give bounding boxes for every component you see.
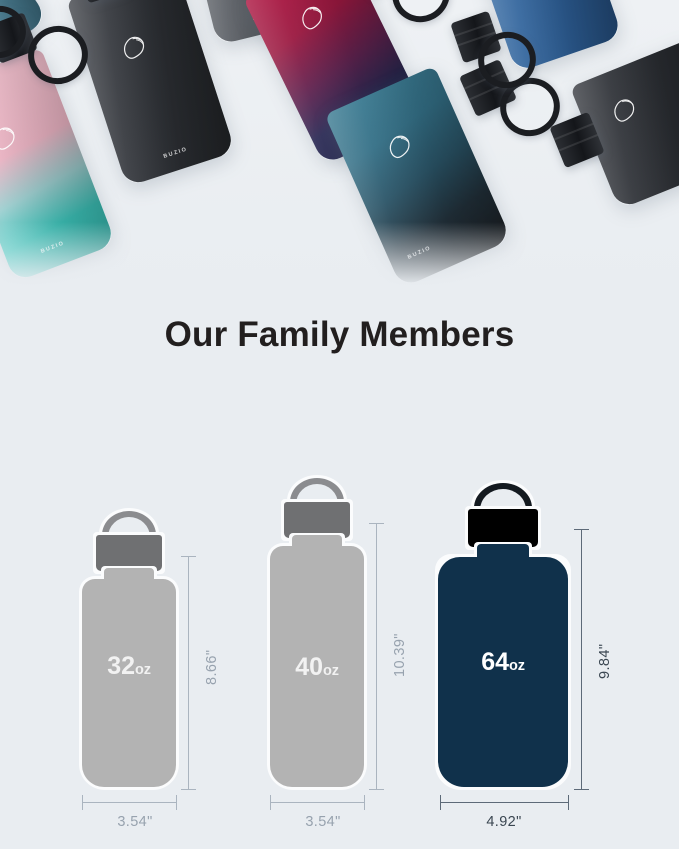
hero-loop-red	[383, 0, 460, 32]
bottle-64oz-width-label: 4.92"	[428, 814, 580, 830]
capacity-value: 32	[107, 652, 135, 680]
size-comparison-diagram: 32oz 8.66" 3.54"	[0, 440, 679, 840]
page-title: Our Family Members	[0, 315, 679, 355]
capacity-unit: oz	[509, 658, 525, 674]
bottle-group-64oz: 64oz 9.84" 4.92"	[428, 440, 598, 840]
capacity-unit: oz	[135, 662, 151, 678]
bottle-32oz-body	[82, 579, 176, 787]
bottle-64oz: 64oz	[435, 480, 571, 790]
bottle-group-32oz: 32oz 8.66" 3.54"	[70, 440, 200, 840]
bottle-32oz-width-label: 3.54"	[70, 814, 200, 830]
hero-product-photo: BUZIO BUZIO BUZIO	[0, 0, 679, 292]
bottle-40oz-width-label: 3.54"	[258, 814, 388, 830]
bottle-40oz: 40oz	[267, 475, 367, 790]
capacity-value: 40	[295, 653, 323, 681]
bottle-64oz-capacity-label: 64oz	[435, 648, 571, 677]
hero-bottle-black-matte: BUZIO	[67, 0, 236, 187]
product-size-chart-page: BUZIO BUZIO BUZIO	[0, 0, 679, 849]
bottle-64oz-height-label: 9.84"	[597, 644, 613, 679]
bottle-group-40oz: 40oz 10.39" 3.54"	[258, 440, 388, 840]
bottle-32oz: 32oz	[79, 508, 179, 790]
hero-bottom-fade	[0, 222, 679, 292]
capacity-value: 64	[481, 648, 509, 676]
bottle-32oz-capacity-label: 32oz	[79, 652, 179, 681]
bottle-32oz-height-label: 8.66"	[204, 650, 220, 685]
bottle-40oz-capacity-label: 40oz	[267, 653, 367, 682]
bottle-40oz-height-label: 10.39"	[392, 633, 408, 677]
capacity-unit: oz	[323, 663, 339, 679]
